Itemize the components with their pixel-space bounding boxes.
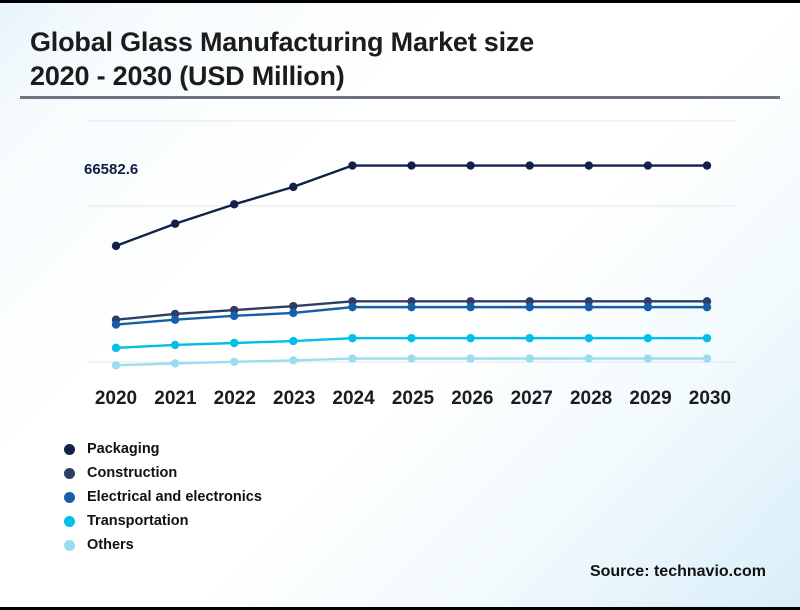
title-divider <box>20 96 780 99</box>
legend-swatch-icon <box>64 468 75 479</box>
legend-item-others[interactable]: Others <box>64 533 262 557</box>
legend-item-label: Electrical and electronics <box>87 489 262 505</box>
data-point-others-2026[interactable] <box>466 354 474 362</box>
data-point-others-2021[interactable] <box>171 359 179 367</box>
x-axis-tick-2022: 2022 <box>207 388 263 410</box>
data-point-electrical-and-electronics-2020[interactable] <box>112 320 120 328</box>
legend-item-label: Packaging <box>87 441 160 457</box>
data-point-packaging-2023[interactable] <box>289 183 297 191</box>
data-point-others-2024[interactable] <box>348 354 356 362</box>
data-point-transportation-2030[interactable] <box>703 334 711 342</box>
data-point-packaging-2026[interactable] <box>466 161 474 169</box>
data-point-electrical-and-electronics-2023[interactable] <box>289 309 297 317</box>
data-point-electrical-and-electronics-2029[interactable] <box>644 303 652 311</box>
data-point-transportation-2020[interactable] <box>112 344 120 352</box>
data-point-packaging-2025[interactable] <box>407 161 415 169</box>
legend-swatch-icon <box>64 516 75 527</box>
legend-item-label: Transportation <box>87 513 189 529</box>
data-point-others-2023[interactable] <box>289 356 297 364</box>
data-point-others-2020[interactable] <box>112 361 120 369</box>
data-point-packaging-2027[interactable] <box>526 161 534 169</box>
data-point-packaging-2022[interactable] <box>230 200 238 208</box>
data-point-packaging-2021[interactable] <box>171 220 179 228</box>
data-point-label-packaging-2020: 66582.6 <box>84 161 138 178</box>
data-point-transportation-2026[interactable] <box>466 334 474 342</box>
data-point-electrical-and-electronics-2025[interactable] <box>407 303 415 311</box>
x-axis-tick-2024: 2024 <box>326 388 382 410</box>
data-point-electrical-and-electronics-2028[interactable] <box>585 303 593 311</box>
data-point-transportation-2023[interactable] <box>289 337 297 345</box>
x-axis-tick-2026: 2026 <box>444 388 500 410</box>
data-point-packaging-2024[interactable] <box>348 161 356 169</box>
x-axis-tick-2029: 2029 <box>623 388 679 410</box>
data-point-others-2029[interactable] <box>644 354 652 362</box>
x-axis-tick-2030: 2030 <box>682 388 738 410</box>
data-point-electrical-and-electronics-2030[interactable] <box>703 303 711 311</box>
data-point-others-2028[interactable] <box>585 354 593 362</box>
chart-plot-area <box>0 103 800 378</box>
data-point-transportation-2029[interactable] <box>644 334 652 342</box>
source-attribution: Source: technavio.com <box>590 563 766 581</box>
legend-item-label: Others <box>87 537 134 553</box>
data-point-transportation-2024[interactable] <box>348 334 356 342</box>
line-chart-svg <box>0 103 800 378</box>
x-axis-labels: 2020202120222023202420252026202720282029… <box>88 388 738 410</box>
legend-item-packaging[interactable]: Packaging <box>64 437 262 461</box>
legend-swatch-icon <box>64 444 75 455</box>
data-point-electrical-and-electronics-2027[interactable] <box>526 303 534 311</box>
x-axis-tick-2025: 2025 <box>385 388 441 410</box>
legend-swatch-icon <box>64 492 75 503</box>
data-point-packaging-2020[interactable] <box>112 242 120 250</box>
x-axis-tick-2028: 2028 <box>563 388 619 410</box>
data-point-packaging-2030[interactable] <box>703 161 711 169</box>
x-axis-tick-2021: 2021 <box>147 388 203 410</box>
data-point-others-2030[interactable] <box>703 354 711 362</box>
data-point-electrical-and-electronics-2022[interactable] <box>230 312 238 320</box>
page-title: Global Glass Manufacturing Market size 2… <box>30 25 770 93</box>
x-axis-tick-2020: 2020 <box>88 388 144 410</box>
x-axis-tick-2023: 2023 <box>266 388 322 410</box>
legend-item-electrical-and-electronics[interactable]: Electrical and electronics <box>64 485 262 509</box>
chart-gridlines <box>88 121 735 362</box>
data-point-electrical-and-electronics-2024[interactable] <box>348 303 356 311</box>
x-axis-tick-2027: 2027 <box>504 388 560 410</box>
title-line-2: 2020 - 2030 (USD Million) <box>30 59 770 93</box>
data-point-others-2027[interactable] <box>526 354 534 362</box>
chart-poster: Global Glass Manufacturing Market size 2… <box>0 0 800 610</box>
data-point-electrical-and-electronics-2026[interactable] <box>466 303 474 311</box>
legend-item-construction[interactable]: Construction <box>64 461 262 485</box>
legend-swatch-icon <box>64 540 75 551</box>
chart-legend: PackagingConstructionElectrical and elec… <box>64 437 262 557</box>
data-point-transportation-2027[interactable] <box>526 334 534 342</box>
data-point-others-2022[interactable] <box>230 358 238 366</box>
data-point-electrical-and-electronics-2021[interactable] <box>171 316 179 324</box>
data-point-packaging-2028[interactable] <box>585 161 593 169</box>
data-point-transportation-2021[interactable] <box>171 341 179 349</box>
legend-item-label: Construction <box>87 465 177 481</box>
data-point-transportation-2022[interactable] <box>230 339 238 347</box>
legend-item-transportation[interactable]: Transportation <box>64 509 262 533</box>
chart-series-layer <box>112 161 711 369</box>
data-point-transportation-2025[interactable] <box>407 334 415 342</box>
data-point-others-2025[interactable] <box>407 354 415 362</box>
data-point-transportation-2028[interactable] <box>585 334 593 342</box>
title-line-1: Global Glass Manufacturing Market size <box>30 25 770 59</box>
data-point-packaging-2029[interactable] <box>644 161 652 169</box>
